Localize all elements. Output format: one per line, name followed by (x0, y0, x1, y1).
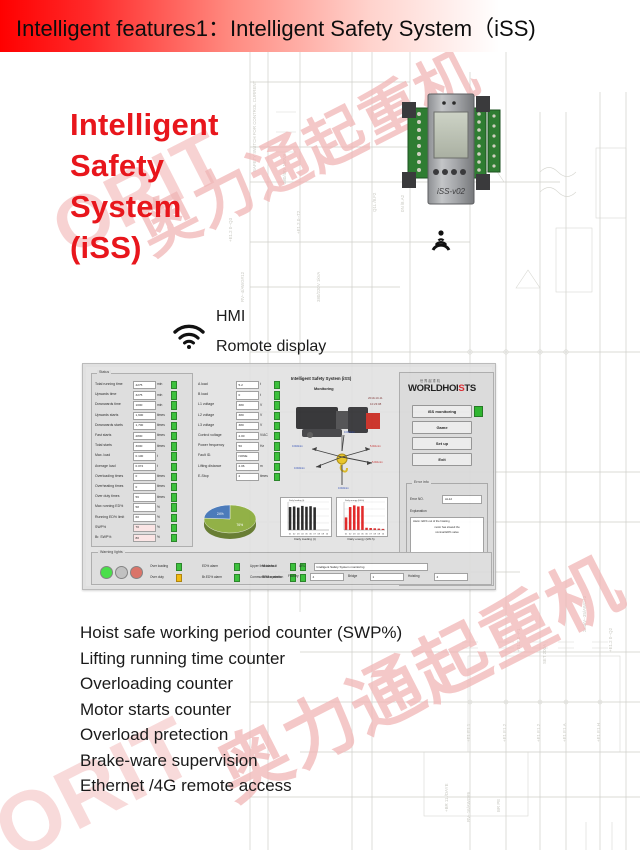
data-row-label: B load (198, 392, 208, 396)
data-row-value-field[interactable]: 380 (236, 412, 259, 420)
daily-energy-chart: 01020304050607080910Daily energy (kW.h) (336, 497, 388, 537)
bar-tick-label: 04 (357, 534, 360, 536)
hero-title: Intelligent Safety System (iSS) (70, 104, 300, 268)
factory-field[interactable]: 4 (310, 573, 344, 581)
data-row-value-field[interactable]: 3000 (133, 442, 156, 450)
svg-text:RV--16/AWG#6: RV--16/AWG#6 (466, 791, 471, 822)
data-row-led (171, 401, 177, 409)
feature-item: Overloading counter (80, 671, 402, 697)
status-item-label: Over loading (150, 564, 168, 568)
bar (357, 506, 360, 530)
data-row-led (171, 524, 177, 532)
status-item-led (176, 574, 182, 582)
bridge-value: 1 (373, 575, 375, 579)
data-row-value-field[interactable]: 1,700 (133, 422, 156, 430)
hmi-label: HMI (216, 308, 245, 326)
data-row-value: 50 (239, 444, 242, 448)
data-row-value-field[interactable]: 0 (236, 391, 259, 399)
data-row-value: 0 (136, 485, 138, 489)
bar-tick-label: 02 (349, 534, 352, 536)
hero-title-line-4: (iSS) (70, 227, 300, 268)
data-row-label: Overheating times (95, 484, 123, 488)
svg-text:Q1L /8.F2: Q1L /8.F2 (372, 192, 377, 212)
hoisting-label: Hoisting (408, 574, 420, 578)
url-field[interactable]: Intelligent Safety System monitoring (314, 563, 428, 571)
svg-text:+E1 E1.A: +E1 E1.A (562, 723, 567, 742)
data-row-unit: min (157, 403, 162, 407)
error-no-field[interactable]: AL12 (442, 495, 482, 504)
data-row-value: 3275 (136, 393, 143, 397)
status-item-led (234, 574, 240, 582)
data-row-led (274, 422, 280, 430)
page-title: Intelligent features1：Intelligent Safety… (16, 11, 536, 43)
data-row-label: Total running time (95, 382, 123, 386)
data-row-led (274, 463, 280, 471)
status-item-label: Br.ED% alarm (202, 575, 222, 579)
data-row-led (274, 452, 280, 460)
status-group-label: Status (97, 370, 111, 374)
data-row-value-field[interactable]: 0 (133, 473, 156, 481)
data-row-value-field[interactable]: 80 (133, 534, 156, 542)
data-row-value: 58 (136, 505, 139, 509)
bridge-label: Bridge (348, 574, 357, 578)
data-row-value-field[interactable]: 50 (236, 442, 259, 450)
feature-item: Motor starts counter (80, 697, 402, 723)
data-row-value: 3000 (136, 444, 143, 448)
svg-text:+BR 11 /DAYE: +BR 11 /DAYE (444, 783, 449, 812)
data-row-label: Running ED% limit (95, 515, 124, 519)
iss-monitoring-led (474, 406, 483, 417)
data-row-value-field[interactable]: 2 (236, 473, 259, 481)
bar-tick-label: 08 (374, 534, 377, 536)
bar-tick-label: 03 (297, 534, 300, 536)
hmi-title: Intelligent Safety System (iSS) (291, 376, 351, 381)
pie-chart: 76%24% (194, 495, 272, 545)
data-row-value: 4275 (136, 383, 143, 387)
data-row-unit: % (157, 505, 160, 509)
hmi-subtitle: Monitoring (314, 387, 334, 391)
worldhoists-logo: WORLDHOISTS (408, 383, 476, 394)
data-row-value: 1000 (136, 403, 143, 407)
bar-tick-label: 08 (318, 534, 321, 536)
data-row-led (171, 422, 177, 430)
hoist-arrow-label: 0.0t/0min (344, 431, 355, 434)
url-field-value: Intelligent Safety System monitoring (317, 565, 365, 569)
data-row-value: 2 (239, 474, 241, 478)
data-row-value: 0 (136, 474, 138, 478)
data-row-value-field[interactable]: 0.100 (133, 452, 156, 460)
hmi-status-bar: Warning lights Over loadingOver dutyED% … (91, 552, 492, 585)
explanation-label: Explanation (410, 509, 427, 513)
data-row-value: NONE (239, 454, 248, 458)
error-no-value: AL12 (445, 497, 452, 501)
data-row-value: 60 (136, 515, 139, 519)
data-row-value: 0 (239, 393, 241, 397)
svg-text:+E1.2 0--Q2: +E1.2 0--Q2 (608, 627, 613, 652)
data-row-value: 56 (136, 495, 139, 499)
iss-controller-photo: iSS-v02 (396, 74, 506, 226)
data-row-value: 80 (136, 536, 139, 540)
data-row-value: 2800 (136, 434, 143, 438)
bar-tick-label: 06 (365, 534, 368, 536)
feature-item: Brake-ware supervision (80, 748, 402, 774)
data-row-value-field[interactable]: 3275 (133, 391, 156, 399)
feature-item: Hoist safe working period counter (SWP%) (80, 620, 402, 646)
hmi-screenshot-panel: Status Total running time4275minUpwards … (82, 363, 496, 590)
data-row-unit: V (260, 423, 262, 427)
bar (345, 517, 348, 530)
lamp-off (115, 566, 128, 579)
bar (305, 507, 308, 530)
data-row-label: Upwards starts (95, 413, 118, 417)
bar-tick-label: 10 (326, 534, 329, 536)
data-row-label: Max. load (95, 453, 110, 457)
bar (365, 528, 368, 530)
data-row-value-field[interactable]: 56 (133, 493, 156, 501)
data-row-label: SWP% (95, 525, 106, 529)
data-row-value-field[interactable]: 4275 (133, 381, 156, 389)
data-row-led (171, 463, 177, 471)
bar (297, 508, 300, 530)
data-row-unit: % (157, 525, 160, 529)
lamp-green (100, 566, 113, 579)
factory-label: Factory (288, 574, 299, 578)
data-row-unit: times (157, 484, 165, 488)
data-row-unit: min (157, 382, 162, 386)
bar (349, 507, 352, 530)
status-item-led (176, 563, 182, 571)
hero-title-line-1: Intelligent (70, 104, 300, 145)
bridge-field[interactable]: 1 (370, 573, 404, 581)
data-row-unit: V/AC (260, 433, 268, 437)
status-item-label: Motor fault (262, 564, 277, 568)
data-row-led (171, 514, 177, 522)
hero-title-line-3: System (70, 186, 300, 227)
hoist-arrow-label: 5.0t/1min (372, 461, 383, 464)
data-row-value-field[interactable]: 1,600 (133, 412, 156, 420)
data-row-value: 2.00 (239, 434, 245, 438)
feature-item: Ethernet /4G remote access (80, 773, 402, 799)
svg-text:+E1 E1.1: +E1 E1.1 (466, 723, 471, 742)
bar (301, 506, 304, 530)
data-row-label: Total starts (95, 443, 112, 447)
svg-text:BR PE: BR PE (496, 799, 501, 812)
svg-text:+E1 E1.2: +E1 E1.2 (536, 723, 541, 742)
factory-value: 4 (313, 575, 315, 579)
data-row-led (171, 483, 177, 491)
bar (293, 506, 296, 530)
data-row-unit: % (157, 535, 160, 539)
status-item-label: Over duty (150, 575, 164, 579)
remote-display-label: Romote display (216, 338, 326, 356)
data-row-unit: m (260, 464, 263, 468)
data-row-unit: times (157, 495, 165, 499)
data-row-value: 70 (136, 525, 139, 529)
bar (369, 528, 372, 530)
data-row-value-field[interactable]: 58 (133, 503, 156, 511)
daily-energy-chart-caption: Daily energy (kW.h) (336, 537, 386, 541)
data-row-value: 380 (239, 413, 244, 417)
data-row-unit: times (157, 444, 165, 448)
data-row-unit: times (260, 474, 268, 478)
bar-tick-label: 05 (305, 534, 308, 536)
data-row-led (171, 412, 177, 420)
bar-tick-label: 06 (309, 534, 312, 536)
data-row-value: 380 (239, 423, 244, 427)
svg-text:+E1.2 0--F1: +E1.2 0--F1 (516, 628, 521, 652)
data-row-led (274, 381, 280, 389)
daily-loading-chart: 01020304050607080910Daily loading (t) (280, 497, 332, 537)
data-row-value: 0.100 (136, 454, 144, 458)
hmi-date: 2019-10-11 (368, 396, 383, 400)
data-row-value: 0.072 (136, 464, 144, 468)
bar-tick-label: 05 (361, 534, 364, 536)
data-row-unit: times (157, 433, 165, 437)
data-row-value-field[interactable]: 0 (133, 483, 156, 491)
hoist-arrow-label: 0.0t/0min (294, 467, 305, 470)
bar (378, 529, 381, 530)
hoisting-value: 4 (437, 575, 439, 579)
data-row-unit: t (157, 454, 158, 458)
data-row-unit: min (157, 393, 162, 397)
wifi-icon (172, 322, 206, 350)
hoist-arrow-label: 0.0t/0min (338, 487, 349, 490)
data-row-led (171, 381, 177, 389)
bar-tick-label: 01 (289, 534, 292, 536)
bar-tick-label: 02 (293, 534, 296, 536)
hoisting-field[interactable]: 4 (434, 573, 468, 581)
data-row-led (274, 391, 280, 399)
data-row-label: A load (198, 382, 208, 386)
data-row-unit: times (157, 423, 165, 427)
lamp-red (130, 566, 143, 579)
data-row-label: L1 voltage (198, 402, 214, 406)
bar-tick-label: 01 (345, 534, 348, 536)
hoist-arrow-label: 5.0t/1min (370, 445, 381, 448)
data-row-label: Br. SWP% (95, 535, 111, 539)
data-row-value-field[interactable]: 2800 (133, 432, 156, 440)
data-row-led (274, 401, 280, 409)
url-field-label: URL (299, 564, 305, 568)
status-item-led (234, 563, 240, 571)
data-row-label: Power frequency (198, 443, 224, 447)
data-row-unit: % (157, 515, 160, 519)
slide-header-band: Intelligent features1：Intelligent Safety… (0, 0, 640, 52)
data-row-unit: Hz (260, 444, 264, 448)
svg-text:iSS-v02: iSS-v02 (437, 187, 466, 196)
explanation-line-3: nominal ED% value (413, 530, 481, 536)
hoist-arrow-label: 0.0t/0min (292, 445, 303, 448)
data-row-led (171, 442, 177, 450)
svg-text:+E1 E1.H: +E1 E1.H (596, 723, 601, 742)
data-row-value: 5.2 (239, 383, 243, 387)
feature-list: Hoist safe working period counter (SWP%)… (80, 620, 402, 799)
data-row-led (171, 391, 177, 399)
data-row-unit: t (157, 464, 158, 468)
data-row-label: Over duty times (95, 494, 120, 498)
bar (313, 507, 316, 530)
data-row-label: Max running ED% (95, 504, 123, 508)
svg-text:+E1 E1.2: +E1 E1.2 (502, 723, 507, 742)
data-row-label: Control voltage (198, 433, 222, 437)
data-row-label: Overloading times (95, 474, 123, 478)
bar-tick-label: 10 (382, 534, 385, 536)
antenna-icon (424, 228, 458, 254)
explanation-text: Alarm: ED% out of the hoisting motor has… (410, 517, 484, 553)
data-row-led (274, 432, 280, 440)
data-row-value-field[interactable]: NONE (236, 452, 259, 460)
data-row-led (171, 473, 177, 481)
data-row-value: 2.06 (239, 464, 245, 468)
bar-chart-title: Daily loading (t) (289, 499, 304, 502)
data-row-value-field[interactable]: 1000 (133, 401, 156, 409)
svg-text:RV--4/AWG#12: RV--4/AWG#12 (240, 271, 245, 302)
feature-item: Lifting running time counter (80, 646, 402, 672)
data-row-value-field[interactable]: 2.06 (236, 463, 259, 471)
bar (353, 505, 356, 530)
data-row-unit: V (260, 403, 262, 407)
data-row-label: Downwards time (95, 402, 121, 406)
data-row-unit: V (260, 413, 262, 417)
slide-canvas: SAFETY SWITCH FOR CONTROL CURRENT 380/48… (0, 0, 640, 850)
data-row-led (274, 473, 280, 481)
data-row-led (274, 442, 280, 450)
button-exit[interactable]: Exit (412, 453, 472, 466)
bar (373, 528, 376, 530)
data-row-value-field[interactable]: 380 (236, 422, 259, 430)
bar-tick-label: 04 (301, 534, 304, 536)
svg-text:2x4kV--35/AWG#2: 2x4kV--35/AWG#2 (582, 595, 587, 632)
bar-chart-title: Daily energy (kW.h) (345, 499, 364, 502)
status-item-led (300, 574, 306, 582)
data-row-label: Fault ID. (198, 453, 211, 457)
bar-tick-label: 07 (313, 534, 316, 536)
data-row-label: Upwards time (95, 392, 116, 396)
error-info-label: Error info (412, 480, 431, 484)
data-row-value-field[interactable]: 60 (133, 514, 156, 522)
bar-tick-label: 03 (353, 534, 356, 536)
data-row-value-field[interactable]: 5.2 (236, 381, 259, 389)
data-row-label: Fast starts (95, 433, 111, 437)
data-row-led (274, 412, 280, 420)
bar (309, 506, 312, 530)
svg-text:380/220V 1kVA: 380/220V 1kVA (316, 272, 321, 302)
status-item-label: ED% alarm (202, 564, 218, 568)
status-item-led (290, 563, 296, 571)
data-row-led (171, 534, 177, 542)
data-row-value: 1,600 (136, 413, 144, 417)
data-row-value: 380 (239, 403, 244, 407)
data-row-value-field[interactable]: 2.00 (236, 432, 259, 440)
data-row-unit: times (157, 413, 165, 417)
data-row-value-field[interactable]: 380 (236, 401, 259, 409)
button-game[interactable]: Game (412, 421, 472, 434)
svg-text:SET 200A: SET 200A (542, 644, 547, 664)
data-row-label: L2 voltage (198, 413, 214, 417)
data-row-led (171, 493, 177, 501)
logo-text-left: WORLDHOI (408, 383, 458, 394)
data-row-unit: t (260, 393, 261, 397)
data-row-led (171, 432, 177, 440)
data-row-led (171, 452, 177, 460)
bar-tick-label: 09 (322, 534, 325, 536)
warning-lights-label: Warning lights (98, 550, 125, 554)
error-no-label: Error NO. (410, 497, 424, 501)
data-row-unit: t (260, 382, 261, 386)
data-row-label: E-Stop (198, 474, 209, 478)
data-row-unit: times (157, 474, 165, 478)
data-row-label: L3 voltage (198, 423, 214, 427)
pie-slice-label: 24% (217, 512, 224, 516)
button-set-up[interactable]: Set up (412, 437, 472, 450)
data-row-value-field[interactable]: 70 (133, 524, 156, 532)
bar-tick-label: 07 (369, 534, 372, 536)
bar-tick-label: 09 (378, 534, 381, 536)
data-row-value-field[interactable]: 0.072 (133, 463, 156, 471)
pie-slice-label: 76% (236, 523, 243, 527)
data-row-label: Average load (95, 464, 116, 468)
bar (289, 507, 292, 530)
daily-loading-chart-caption: Daily loading (t) (280, 537, 330, 541)
hoist-diagram: 0.0t/0min 0.0t/0min 5.0t/1min 5.0t/1min … (292, 405, 396, 497)
data-row-led (171, 503, 177, 511)
logo-text-right: TS (464, 383, 476, 394)
bar (361, 506, 364, 530)
data-row-label: Downwards starts (95, 423, 123, 427)
hero-title-line-2: Safety (70, 145, 300, 186)
status-item-label: RPM operation (262, 575, 283, 579)
data-row-label: Lifting distance (198, 464, 221, 468)
data-row-value: 1,700 (136, 423, 144, 427)
feature-item: Overload pretection (80, 722, 402, 748)
button-iss-monitoring[interactable]: iSS monitoring (412, 405, 472, 418)
